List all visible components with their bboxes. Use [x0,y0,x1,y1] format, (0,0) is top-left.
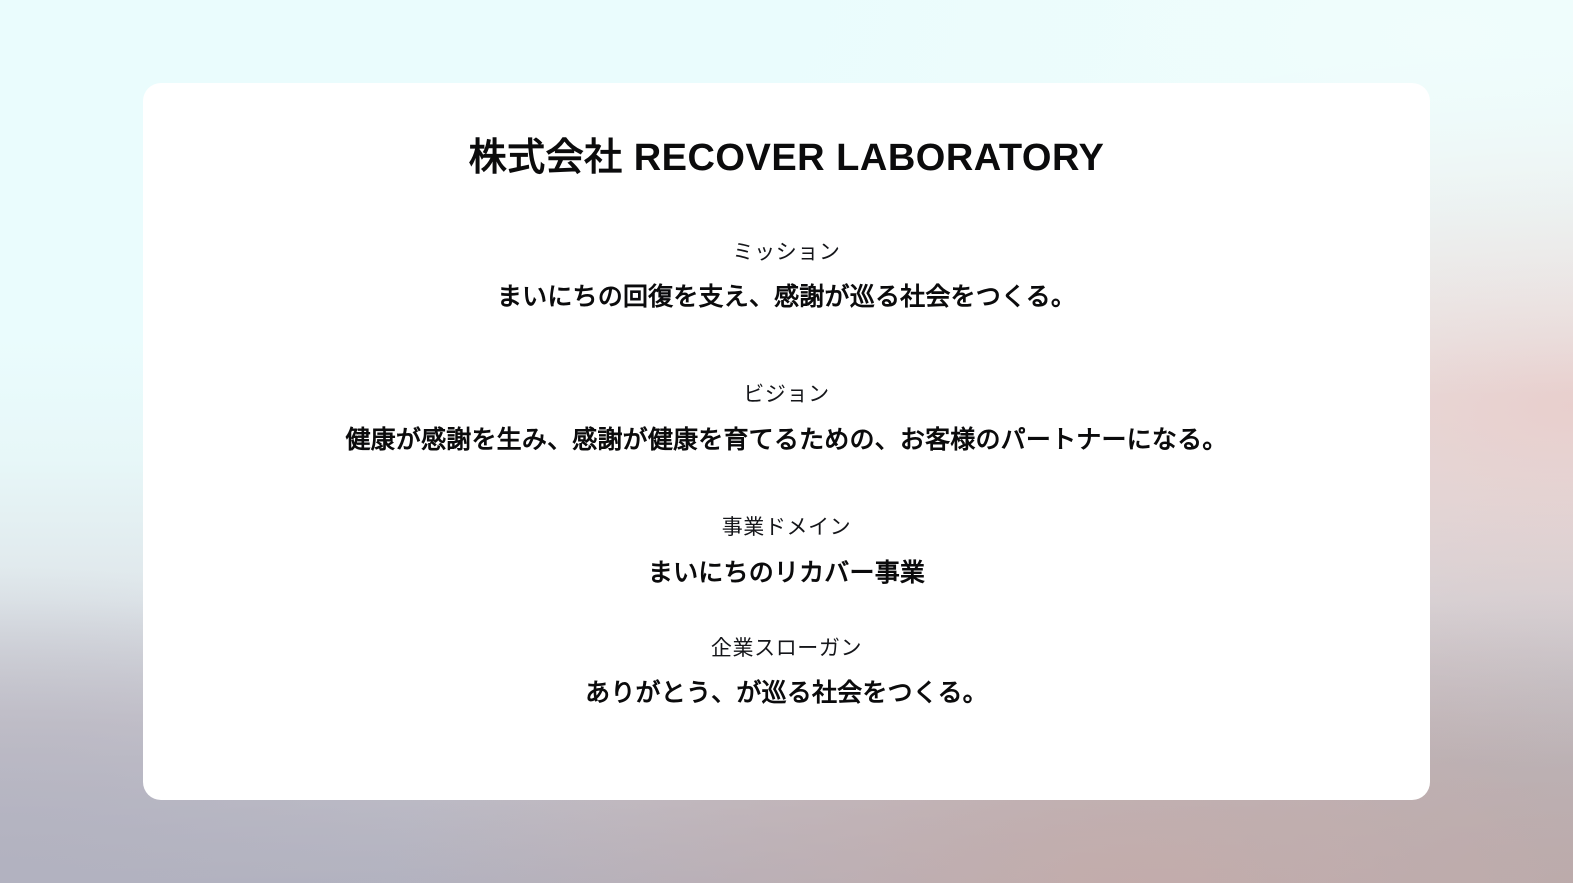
section-business-domain: 事業ドメイン まいにちのリカバー事業 [203,512,1370,591]
section-label-vision: ビジョン [203,379,1370,411]
section-value-mission: まいにちの回復を支え、感謝が巡る社会をつくる。 [203,279,1370,315]
page-title: 株式会社 RECOVER LABORATORY [469,135,1105,183]
card-content: 株式会社 RECOVER LABORATORY ミッション まいにちの回復を支え… [143,83,1430,800]
profile-sections: ミッション まいにちの回復を支え、感謝が巡る社会をつくる。 ビジョン 健康が感謝… [203,237,1370,712]
company-profile-card: 株式会社 RECOVER LABORATORY ミッション まいにちの回復を支え… [143,83,1430,800]
section-label-business-domain: 事業ドメイン [203,512,1370,544]
section-value-company-slogan: ありがとう、が巡る社会をつくる。 [203,675,1370,711]
section-label-company-slogan: 企業スローガン [203,633,1370,665]
section-value-business-domain: まいにちのリカバー事業 [203,555,1370,591]
section-vision: ビジョン 健康が感謝を生み、感謝が健康を育てるための、お客様のパートナーになる。 [203,379,1370,458]
section-company-slogan: 企業スローガン ありがとう、が巡る社会をつくる。 [203,633,1370,712]
section-mission: ミッション まいにちの回復を支え、感謝が巡る社会をつくる。 [203,237,1370,316]
section-value-vision: 健康が感謝を生み、感謝が健康を育てるための、お客様のパートナーになる。 [203,422,1370,458]
section-label-mission: ミッション [203,237,1370,269]
